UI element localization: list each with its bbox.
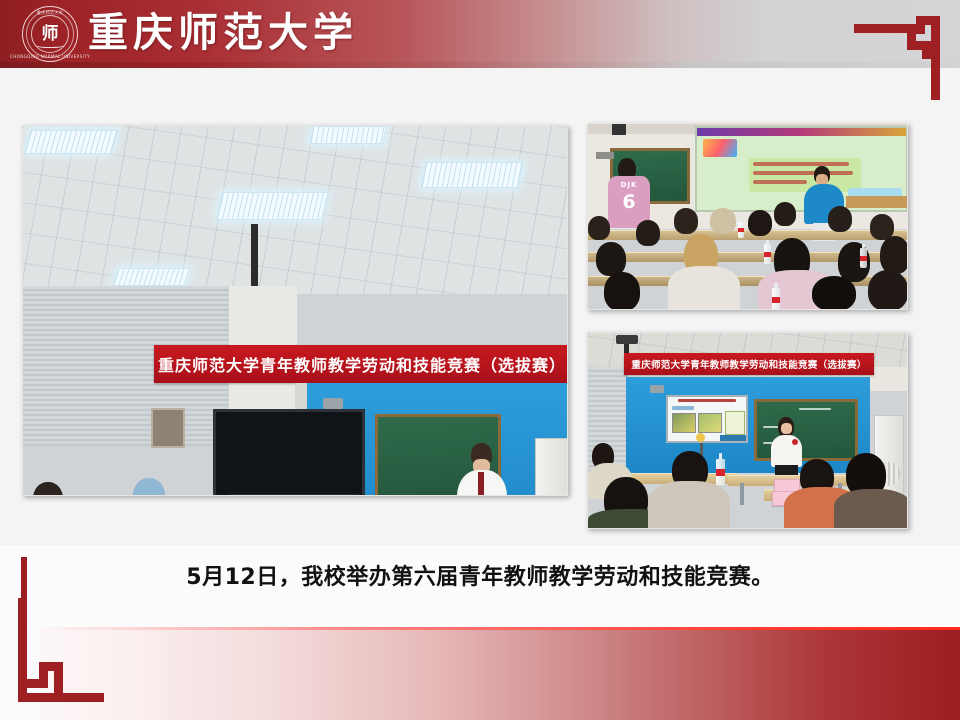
student-head [674,208,698,234]
ceiling [23,126,567,294]
student-head [748,210,772,236]
page-header: 重庆师范大学 CHONGQING NORMAL UNIVERSITY 师 重庆师… [0,0,960,68]
jersey-text: DJK [612,180,646,190]
university-title: 重庆师范大学 [88,4,358,62]
slide-decor-image [703,139,737,157]
jersey-number: 6 [612,190,646,214]
presenter-tie [478,472,484,496]
wall-opening [151,408,185,448]
seal-book-icon [35,39,65,48]
desk-leg [740,483,744,505]
chalk-tray [596,152,614,159]
water-bottle [716,459,725,485]
photo-main-auditorium: 重庆师范大学青年教师教学劳动和技能竞赛（选拔赛） [22,125,568,496]
seal-center-glyph: 师 [22,6,78,62]
slide-question-line [753,171,853,175]
slide-sun-icon [696,433,705,442]
water-bottle [860,248,867,268]
presenter-badge [792,439,798,445]
slide-photo-plant [698,413,722,433]
student-head [774,202,796,226]
slide-title-line [678,399,736,402]
student-body [668,266,740,310]
student-head [604,272,640,310]
event-banner-main: 重庆师范大学青年教师教学劳动和技能竞赛（选拔赛） [154,345,568,383]
ceiling-light [24,130,119,154]
student-head [868,270,908,310]
student-head [636,220,660,246]
slide-question-line [753,180,807,184]
slide-header-bar [697,128,906,136]
photo-top-right-classroom: DJK 6 [587,123,908,310]
slide-subtitle-line [672,406,694,410]
university-logo-icon: 重庆师范大学 CHONGQING NORMAL UNIVERSITY 师 [22,6,78,62]
projector-mount-arm [251,224,258,290]
footer-gradient-band [0,630,960,720]
photo-bottom-right-contest: 重庆师范大学青年教师教学劳动和技能竞赛（选拔赛） [587,332,908,529]
projector-icon [616,335,638,344]
student-head [588,216,610,240]
judge-body [834,489,908,529]
presenter-face [781,423,792,434]
student-head [828,206,852,232]
water-bottle [738,222,744,238]
event-banner-bottom-right: 重庆师范大学青年教师教学劳动和技能竞赛（选拔赛） [624,353,874,375]
presentation-screen-bottom-right [666,395,748,443]
water-bottle [764,244,771,264]
speaker-icon [612,124,626,135]
ceiling-light [420,162,523,188]
ceiling-light [216,192,328,220]
corner-ornament-top-right-icon [850,8,946,108]
student-head [812,276,856,310]
slide-photo-leaf [672,413,696,433]
podium-top [846,196,908,208]
wall-projector-icon [650,385,664,393]
audience-head [133,478,165,496]
header-underline [0,62,960,68]
audience-head [33,482,63,496]
slide-footer-bar [720,435,746,441]
wall-projector-icon [323,398,343,409]
student-head [880,236,908,274]
student-head-cap [710,208,736,234]
slide-question-line [753,162,849,166]
judge-body [648,481,730,529]
air-conditioner [535,438,568,496]
ceiling-light [309,126,386,144]
caption-text: 5月12日，我校举办第六届青年教师教学劳动和技能竞赛。 [0,545,960,605]
water-bottle [772,288,780,310]
caption-band: 5月12日，我校举办第六届青年教师教学劳动和技能竞赛。 [0,545,960,605]
corner-ornament-bottom-left-icon [14,598,110,712]
slide-question-box [749,158,861,192]
presentation-screen-main [213,409,365,496]
student-head [596,242,626,276]
slide-text-panel [725,411,745,435]
chalkboard-bottom-right [754,399,858,461]
chalk-title-line [799,408,831,410]
ceiling-light [112,268,190,286]
screen-bezel-bottom [219,494,359,496]
